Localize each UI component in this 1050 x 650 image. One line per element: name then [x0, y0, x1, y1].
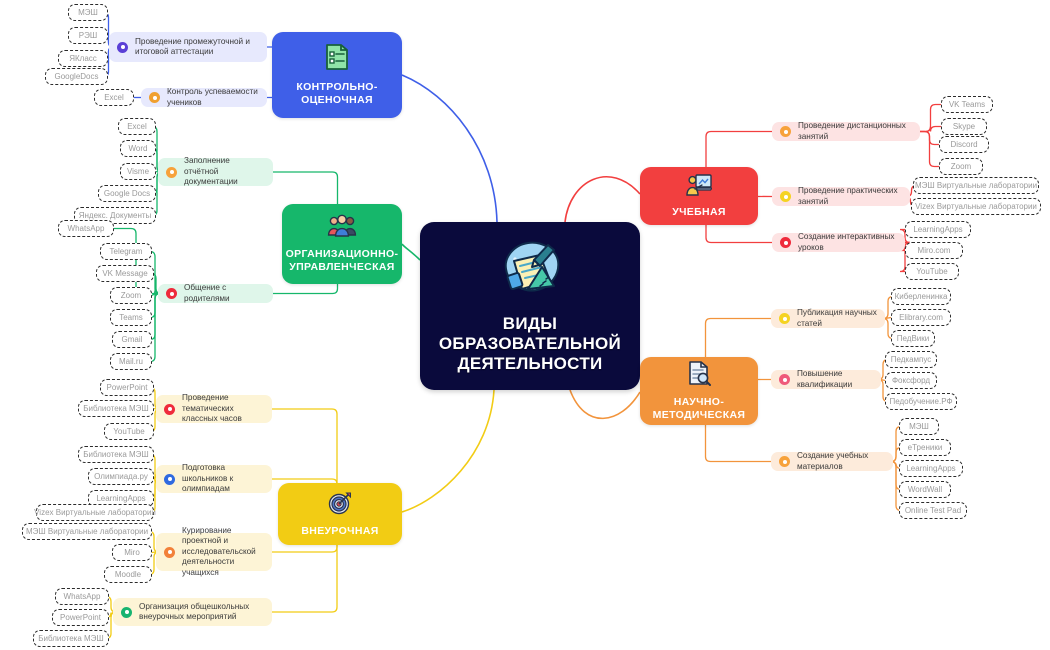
leaf-node[interactable]: МЭШ Виртуальные лаборатории	[913, 177, 1039, 194]
leaf-label: ПедВики	[897, 334, 929, 343]
status-dot-icon	[780, 191, 791, 202]
leaf-label: WhatsApp	[68, 224, 105, 233]
leaf-label: Олимпиада.ру	[94, 472, 148, 481]
leaf-label: Zoom	[951, 162, 971, 171]
leaf-label: YouTube	[916, 267, 947, 276]
sub-node-uchebnaya-2[interactable]: Создание интерактивных уроков	[772, 233, 905, 252]
leaf-label: еТреники	[908, 443, 943, 452]
central-title: ВИДЫ ОБРАЗОВАТЕЛЬНОЙ ДЕЯТЕЛЬНОСТИ	[431, 314, 629, 374]
leaf-label: Библиотека МЭШ	[38, 634, 103, 643]
status-dot-icon	[164, 547, 175, 558]
leaf-label: GoogleDocs	[54, 72, 98, 81]
status-dot-icon	[149, 92, 160, 103]
branch-label-line: ВНЕУРОЧНАЯ	[301, 525, 378, 538]
leaf-node[interactable]: Киберленинка	[891, 288, 951, 305]
leaf-node[interactable]: МЭШ	[68, 4, 108, 21]
leaf-node[interactable]: Visme	[120, 163, 156, 180]
leaf-node[interactable]: Telegram	[100, 243, 152, 260]
people-group-icon	[327, 214, 357, 242]
leaf-node[interactable]: Педкампус	[885, 351, 937, 368]
leaf-node[interactable]: LearningApps	[899, 460, 963, 477]
link-center-organizacionno	[402, 244, 420, 260]
leaf-label: PowerPoint	[107, 383, 148, 392]
leaf-node[interactable]: Miro.com	[905, 242, 963, 259]
branch-label-vneurochnaya: ВНЕУРОЧНАЯ	[295, 525, 384, 538]
link-center-kontrolno	[402, 75, 497, 222]
status-dot-icon	[164, 404, 175, 415]
sub-node-uchebnaya-0[interactable]: Проведение дистанционных занятий	[772, 122, 920, 141]
sub-node-label: Контроль успеваемости учеников	[167, 87, 259, 108]
leaf-label: YouTube	[113, 427, 144, 436]
sub-node-organizacionno-1[interactable]: Общение с родителями	[158, 284, 273, 303]
leaf-label: МЭШ Виртуальные лаборатории	[915, 181, 1037, 190]
leaf-node[interactable]: LearningApps	[905, 221, 971, 238]
sub-node-vneurochnaya-1[interactable]: Подготовка школьников к олимпиадам	[156, 465, 272, 493]
sub-node-nauchno-2[interactable]: Создание учебных материалов	[771, 452, 893, 471]
branch-label-nauchno: НАУЧНО- МЕТОДИЧЕСКАЯ	[647, 396, 752, 422]
leaf-node[interactable]: PowerPoint	[52, 609, 109, 626]
sub-node-nauchno-1[interactable]: Повышение квалификации	[771, 370, 881, 389]
leaf-label: Elibrary.com	[899, 313, 943, 322]
leaf-label: PowerPoint	[60, 613, 101, 622]
leaf-node[interactable]: WordWall	[899, 481, 951, 498]
leaf-label: Mail.ru	[119, 357, 143, 366]
sub-node-kontrolno-1[interactable]: Контроль успеваемости учеников	[141, 88, 267, 107]
leaf-label: МЭШ Виртуальные лаборатории	[26, 527, 148, 536]
sub-node-vneurochnaya-2[interactable]: Курирование проектной и исследовательско…	[156, 533, 272, 571]
sub-node-label: Проведение тематических классных часов	[182, 393, 264, 425]
status-dot-icon	[117, 42, 128, 53]
sub-node-label: Проведение практических занятий	[798, 186, 902, 207]
central-title-line-2: ОБРАЗОВАТЕЛЬНОЙ	[439, 334, 621, 354]
sub-node-label: Организация общешкольных внеурочных меро…	[139, 602, 264, 623]
leaf-node[interactable]: WhatsApp	[55, 588, 109, 605]
leaf-node[interactable]: Библиотека МЭШ	[78, 400, 154, 417]
sub-node-label: Проведение промежуточной и итоговой атте…	[135, 37, 259, 58]
notes-pencil-ruler-icon	[498, 239, 562, 304]
status-dot-icon	[164, 474, 175, 485]
branch-label-kontrolno: КОНТРОЛЬНО- ОЦЕНОЧНАЯ	[290, 81, 383, 107]
branch-node-kontrolno[interactable]: КОНТРОЛЬНО- ОЦЕНОЧНАЯ	[272, 32, 402, 118]
target-dart-icon	[328, 491, 352, 519]
teacher-board-icon	[686, 174, 712, 200]
leaf-label: Gmail	[122, 335, 143, 344]
sub-node-uchebnaya-1[interactable]: Проведение практических занятий	[772, 187, 910, 206]
leaf-label: LearningApps	[906, 464, 955, 473]
leaf-label: Vizex Виртуальные лаборатории	[915, 202, 1037, 211]
sub-node-label: Подготовка школьников к олимпиадам	[182, 463, 264, 495]
leaf-label: WhatsApp	[64, 592, 101, 601]
central-node[interactable]: ВИДЫ ОБРАЗОВАТЕЛЬНОЙ ДЕЯТЕЛЬНОСТИ	[420, 222, 640, 390]
status-dot-icon	[121, 607, 132, 618]
leaf-node[interactable]: Zoom	[110, 287, 152, 304]
sub-node-label: Проведение дистанционных занятий	[798, 121, 912, 142]
sub-node-vneurochnaya-0[interactable]: Проведение тематических классных часов	[156, 395, 272, 423]
leaf-node[interactable]: Discord	[939, 136, 989, 153]
leaf-label: VK Message	[102, 269, 147, 278]
leaf-node[interactable]: YouTube	[905, 263, 959, 280]
leaf-node[interactable]: Библиотека МЭШ	[33, 630, 109, 647]
leaf-node[interactable]: YouTube	[104, 423, 154, 440]
leaf-node[interactable]: Online Test Pad	[899, 502, 967, 519]
leaf-node[interactable]: Олимпиада.ру	[88, 468, 154, 485]
branch-label-line: КОНТРОЛЬНО-	[296, 81, 377, 94]
branch-node-vneurochnaya[interactable]: ВНЕУРОЧНАЯ	[278, 483, 402, 545]
branch-node-organizacionno[interactable]: ОРГАНИЗАЦИОННО- УПРАВЛЕНЧЕСКАЯ	[282, 204, 402, 284]
leaf-label: Miro.com	[918, 246, 951, 255]
leaf-node[interactable]: VK Message	[96, 265, 154, 282]
leaf-node[interactable]: Word	[120, 140, 156, 157]
central-title-line-1: ВИДЫ	[439, 314, 621, 334]
document-search-icon	[687, 360, 711, 390]
leaf-label: Word	[129, 144, 148, 153]
leaf-node[interactable]: Библиотека МЭШ	[78, 446, 154, 463]
leaf-node[interactable]: МЭШ Виртуальные лаборатории	[22, 523, 152, 540]
link-center-uchebnaya	[565, 177, 640, 222]
leaf-label: Яндекс. Документы	[79, 211, 152, 220]
leaf-label: Google Docs	[104, 189, 150, 198]
status-dot-icon	[779, 313, 790, 324]
leaf-label: LearningApps	[913, 225, 962, 234]
leaf-node[interactable]: WhatsApp	[58, 220, 114, 237]
leaf-label: Excel	[127, 122, 147, 131]
leaf-node[interactable]: Moodle	[104, 566, 152, 583]
leaf-label: Skype	[953, 122, 975, 131]
leaf-label: РЭШ	[79, 31, 97, 40]
status-dot-icon	[780, 237, 791, 248]
link-center-vneurochnaya	[402, 390, 494, 512]
leaf-node[interactable]: Gmail	[112, 331, 152, 348]
leaf-label: Discord	[950, 140, 977, 149]
leaf-node[interactable]: GoogleDocs	[45, 68, 108, 85]
leaf-label: Excel	[104, 93, 124, 102]
sub-node-kontrolno-0[interactable]: Проведение промежуточной и итоговой атте…	[109, 32, 267, 62]
branch-label-line: ОЦЕНОЧНАЯ	[296, 94, 377, 107]
branch-label-line: НАУЧНО-	[653, 396, 746, 409]
sub-node-vneurochnaya-3[interactable]: Организация общешкольных внеурочных меро…	[113, 598, 272, 626]
sub-node-label: Заполнение отчётной документации	[184, 156, 265, 188]
leaf-label: Педкампус	[891, 355, 932, 364]
leaf-node[interactable]: Zoom	[939, 158, 983, 175]
status-dot-icon	[779, 374, 790, 385]
leaf-label: Teams	[119, 313, 143, 322]
leaf-node[interactable]: Vizex Виртуальные лаборатории	[36, 504, 154, 521]
leaf-label: Библиотека МЭШ	[83, 404, 148, 413]
leaf-node[interactable]: Excel	[94, 89, 134, 106]
status-dot-icon	[780, 126, 791, 137]
branch-label-line: УПРАВЛЕНЧЕСКАЯ	[286, 261, 399, 274]
branch-label-line: ОРГАНИЗАЦИОННО-	[286, 248, 399, 261]
sub-node-label: Повышение квалификации	[797, 369, 873, 390]
leaf-node[interactable]: Google Docs	[98, 185, 156, 202]
leaf-label: Moodle	[115, 570, 141, 579]
leaf-label: Miro	[124, 548, 140, 557]
leaf-node[interactable]: Excel	[118, 118, 156, 135]
sub-node-label: Создание интерактивных уроков	[798, 232, 897, 253]
leaf-label: Киберленинка	[895, 292, 948, 301]
branch-node-nauchno[interactable]: НАУЧНО- МЕТОДИЧЕСКАЯ	[640, 357, 758, 425]
sub-node-label: Общение с родителями	[184, 283, 265, 304]
branch-label-uchebnaya: УЧЕБНАЯ	[666, 206, 732, 219]
leaf-label: Visme	[127, 167, 149, 176]
leaf-label: Vizex Виртуальные лаборатории	[34, 508, 156, 517]
leaf-node[interactable]: РЭШ	[68, 27, 108, 44]
leaf-label: Telegram	[110, 247, 143, 256]
leaf-node[interactable]: Фоксфорд	[885, 372, 937, 389]
sub-node-label: Курирование проектной и исследовательско…	[182, 526, 264, 579]
leaf-label: МЭШ	[78, 8, 98, 17]
branch-node-uchebnaya[interactable]: УЧЕБНАЯ	[640, 167, 758, 225]
leaf-node[interactable]: Miro	[112, 544, 152, 561]
sub-node-label: Публикация научных статей	[797, 308, 877, 329]
leaf-node[interactable]: VK Teams	[941, 96, 993, 113]
leaf-node[interactable]: еТреники	[899, 439, 951, 456]
leaf-node[interactable]: МЭШ	[899, 418, 939, 435]
leaf-label: МЭШ	[909, 422, 929, 431]
leaf-node[interactable]: PowerPoint	[100, 379, 154, 396]
central-title-line-3: ДЕЯТЕЛЬНОСТИ	[439, 354, 621, 374]
leaf-label: Библиотека МЭШ	[83, 450, 148, 459]
leaf-label: VK Teams	[949, 100, 985, 109]
leaf-label: ЯКласс	[69, 54, 97, 63]
sub-node-label: Создание учебных материалов	[797, 451, 885, 472]
leaf-node[interactable]: ЯКласс	[58, 50, 108, 67]
leaf-label: Online Test Pad	[905, 506, 961, 515]
status-dot-icon	[166, 167, 177, 178]
branch-label-line: МЕТОДИЧЕСКАЯ	[653, 409, 746, 422]
sub-node-organizacionno-0[interactable]: Заполнение отчётной документации	[158, 158, 273, 186]
leaf-label: LearningApps	[96, 494, 145, 503]
leaf-label: Фоксфорд	[892, 376, 930, 385]
leaf-label: Педобучение.РФ	[889, 397, 952, 406]
leaf-node[interactable]: Vizex Виртуальные лаборатории	[911, 198, 1041, 215]
leaf-label: WordWall	[908, 485, 942, 494]
status-dot-icon	[779, 456, 790, 467]
branch-label-organizacionno: ОРГАНИЗАЦИОННО- УПРАВЛЕНЧЕСКАЯ	[280, 248, 405, 274]
leaf-label: Zoom	[121, 291, 141, 300]
leaf-node[interactable]: Teams	[110, 309, 152, 326]
branch-label-line: УЧЕБНАЯ	[672, 206, 726, 219]
link-center-nauchno	[570, 390, 640, 418]
sub-node-nauchno-0[interactable]: Публикация научных статей	[771, 309, 885, 328]
status-dot-icon	[166, 288, 177, 299]
mindmap-canvas: ВИДЫ ОБРАЗОВАТЕЛЬНОЙ ДЕЯТЕЛЬНОСТИ КОНТРО…	[0, 0, 1050, 650]
leaf-node[interactable]: Skype	[941, 118, 987, 135]
checklist-document-icon	[324, 43, 350, 75]
leaf-node[interactable]: Mail.ru	[110, 353, 152, 370]
leaf-node[interactable]: Elibrary.com	[891, 309, 951, 326]
leaf-node[interactable]: ПедВики	[891, 330, 935, 347]
leaf-node[interactable]: Педобучение.РФ	[885, 393, 957, 410]
